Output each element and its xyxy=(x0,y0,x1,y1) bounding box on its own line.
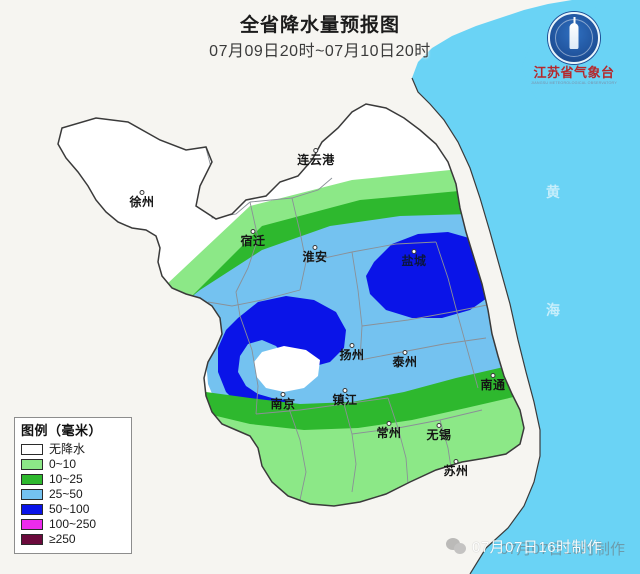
legend-item-100-250: 100~250 xyxy=(21,517,125,532)
sea-name-hai: 海 xyxy=(546,300,560,320)
legend-label: 25~50 xyxy=(49,488,83,501)
legend-item-10-25: 10~25 xyxy=(21,472,125,487)
logo-tower-shape xyxy=(570,23,579,49)
legend-swatch xyxy=(21,504,43,515)
legend-label: 0~10 xyxy=(49,458,76,471)
wechat-bubble-small xyxy=(454,543,466,554)
logo-name: 江苏省气象台 xyxy=(522,66,626,80)
legend-swatch xyxy=(21,459,43,470)
legend-item-50-100: 50~100 xyxy=(21,502,125,517)
legend-swatch xyxy=(21,444,43,455)
legend-label: 50~100 xyxy=(49,503,89,516)
legend-title: 图例（毫米） xyxy=(21,423,125,439)
watermark: 07月07日16时制作 xyxy=(446,534,603,558)
logo-name-en: JIANGSU METEOROLOGICAL OBSERVATORY xyxy=(526,80,622,86)
legend-label: 10~25 xyxy=(49,473,83,486)
organization-logo: 江苏省气象台 JIANGSU METEOROLOGICAL OBSERVATOR… xyxy=(522,12,626,86)
weather-radar-tower-icon xyxy=(548,12,600,64)
legend-swatch xyxy=(21,534,43,545)
legend-label: 100~250 xyxy=(49,518,96,531)
wechat-icon xyxy=(446,537,468,556)
legend-item-0-10: 0~10 xyxy=(21,457,125,472)
legend-swatch xyxy=(21,474,43,485)
legend-panel: 图例（毫米） 无降水 0~10 10~25 25~50 50~100 100~2… xyxy=(14,417,132,554)
watermark-text: 07月07日16时制作 xyxy=(472,536,603,557)
legend-item-25-50: 25~50 xyxy=(21,487,125,502)
precipitation-forecast-map-page: 黄 海 全省降水量预报图 07月09日20时~07月10日20时 江苏省气象台 … xyxy=(0,0,640,574)
legend-item-no-rain: 无降水 xyxy=(21,442,125,457)
legend-swatch xyxy=(21,519,43,530)
legend-label: ≥250 xyxy=(49,533,76,546)
sea-name-huang: 黄 xyxy=(546,182,560,202)
legend-label: 无降水 xyxy=(49,443,85,456)
legend-item-250-plus: ≥250 xyxy=(21,532,125,547)
legend-swatch xyxy=(21,489,43,500)
